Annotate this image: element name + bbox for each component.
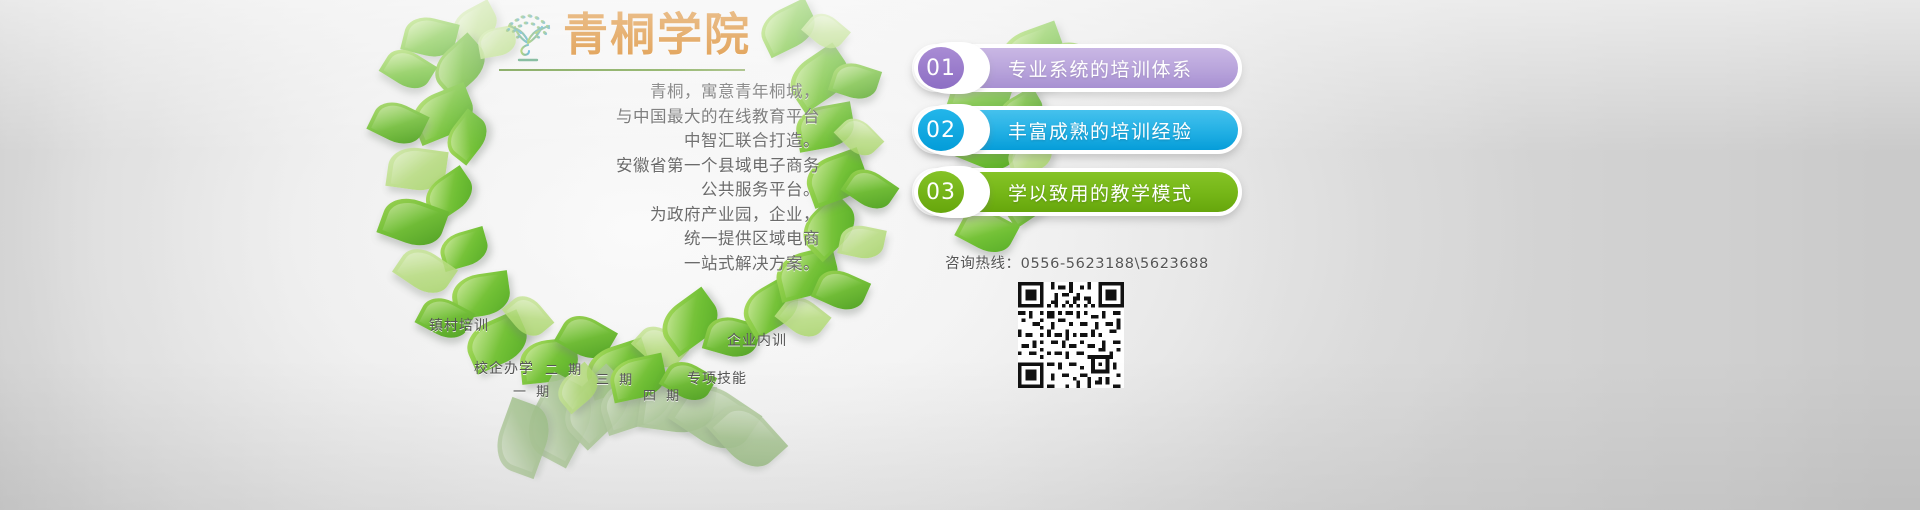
- qr-code-icon[interactable]: [1018, 282, 1124, 388]
- leaf: [801, 7, 851, 56]
- phase-label-3: 三 期: [596, 369, 635, 388]
- tree-icon: [497, 7, 559, 69]
- leaf: [488, 397, 557, 479]
- leaf: [841, 161, 900, 216]
- leaf: [400, 12, 460, 61]
- promo-banner: 青桐学院 青桐，寓意青年桐城， 与中国最大的在线教育平台 中智汇联合打造。 安徽…: [0, 0, 1920, 510]
- leaf: [449, 270, 512, 320]
- category-label-special-skills: 专项技能: [687, 368, 747, 388]
- feature-item-01[interactable]: 专业系统的培训体系 01: [912, 44, 1242, 92]
- leaf: [379, 42, 438, 96]
- feature-number: 02: [918, 109, 964, 151]
- feature-list: 专业系统的培训体系 01 丰富成熟的培训经验 02 学以致用的教学模式 03: [912, 44, 1242, 230]
- description-line: 统一提供区域电商: [430, 227, 820, 252]
- feature-number: 01: [918, 47, 964, 89]
- description-line: 为政府产业园，企业，: [430, 203, 820, 228]
- phase-label-2: 二 期: [545, 359, 584, 378]
- feature-item-02[interactable]: 丰富成熟的培训经验 02: [912, 106, 1242, 154]
- logo-divider: [499, 69, 745, 71]
- description-line: 安徽省第一个县域电子商务: [430, 154, 820, 179]
- description-line: 与中国最大的在线教育平台: [430, 105, 820, 130]
- leaf: [754, 0, 822, 58]
- description-block: 青桐，寓意青年桐城， 与中国最大的在线教育平台 中智汇联合打造。 安徽省第一个县…: [430, 80, 820, 276]
- feature-label: 学以致用的教学模式: [1008, 168, 1226, 216]
- leaf: [502, 289, 555, 343]
- feature-number: 03: [918, 171, 964, 213]
- leaf: [834, 111, 885, 162]
- leaf: [706, 394, 789, 478]
- feature-item-03[interactable]: 学以致用的教学模式 03: [912, 168, 1242, 216]
- description-line: 中智汇联合打造。: [430, 129, 820, 154]
- leaf: [554, 308, 618, 367]
- leaf: [837, 222, 887, 262]
- description-line: 青桐，寓意青年桐城，: [430, 80, 820, 105]
- feature-label: 丰富成熟的培训经验: [1008, 106, 1226, 154]
- category-label-enterprise-training: 企业内训: [727, 330, 787, 350]
- logo[interactable]: 青桐学院: [497, 5, 747, 75]
- hotline-text: 咨询热线：0556-5623188\5623688: [912, 252, 1242, 273]
- leaf: [447, 0, 504, 51]
- category-label-town-training: 镇村培训: [429, 315, 489, 335]
- leaf: [653, 287, 727, 358]
- category-label-school-enterprise: 校企办学: [474, 358, 534, 378]
- leaf: [631, 318, 689, 375]
- logo-title: 青桐学院: [563, 9, 751, 61]
- leaf: [366, 95, 429, 152]
- phase-label-4: 四 期: [643, 385, 682, 404]
- description-line: 一站式解决方案。: [430, 252, 820, 277]
- leaf: [828, 58, 882, 105]
- feature-label: 专业系统的培训体系: [1008, 44, 1226, 92]
- description-line: 公共服务平台。: [430, 178, 820, 203]
- phase-label-1: 一 期: [513, 381, 552, 400]
